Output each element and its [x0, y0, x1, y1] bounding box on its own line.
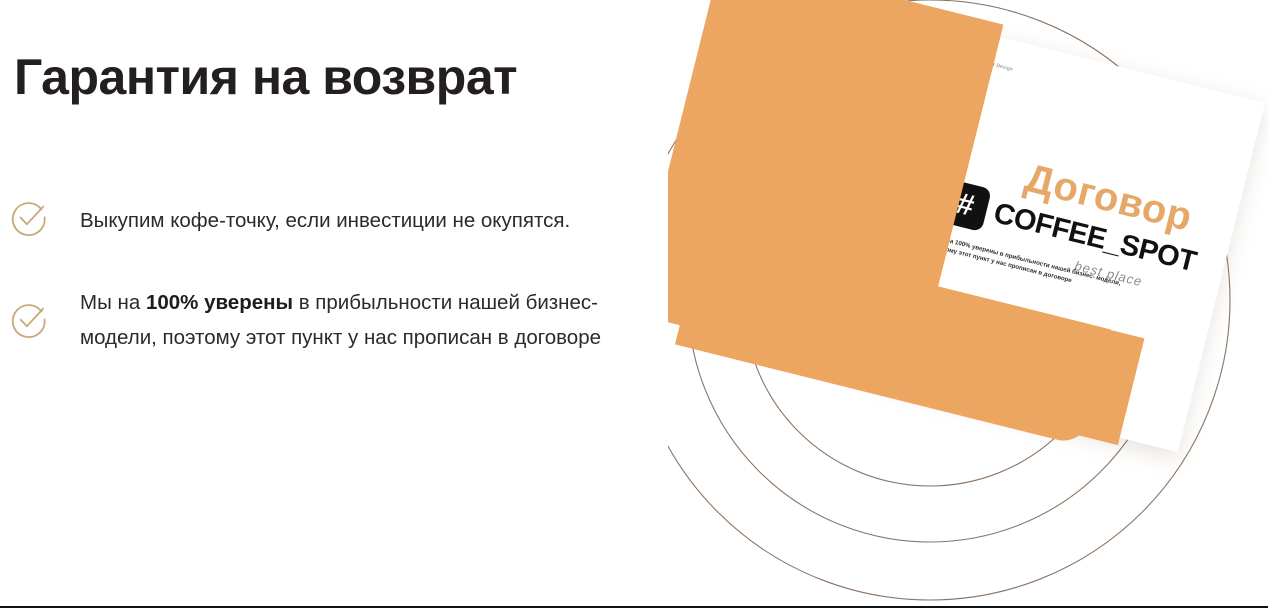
list-item-text-part: Мы на — [80, 291, 146, 314]
check-circle-icon — [8, 197, 50, 239]
list-item-text: Выкупим кофе-точку, если инвестиции не о… — [80, 196, 660, 238]
content-column: Гарантия на возврат Выкупим кофе-точку, … — [0, 0, 720, 614]
check-circle-icon — [8, 299, 50, 341]
list-item: Мы на 100% уверены в прибыльности нашей … — [8, 285, 708, 355]
benefit-list: Выкупим кофе-точку, если инвестиции не о… — [8, 196, 708, 355]
bottom-divider — [0, 606, 1268, 608]
contract-folder-illustration: Your Design Договор # COFFEE_SPOT best p… — [668, 0, 1268, 614]
folder-stage: Your Design Договор # COFFEE_SPOT best p… — [668, 0, 1268, 614]
page-title: Гарантия на возврат — [14, 47, 517, 107]
list-item: Выкупим кофе-точку, если инвестиции не о… — [8, 196, 708, 239]
list-item-text: Мы на 100% уверены в прибыльности нашей … — [80, 285, 660, 355]
page-root: Your Design Договор # COFFEE_SPOT best p… — [0, 0, 1268, 614]
list-item-text-emphasis: 100% уверены — [146, 291, 293, 314]
